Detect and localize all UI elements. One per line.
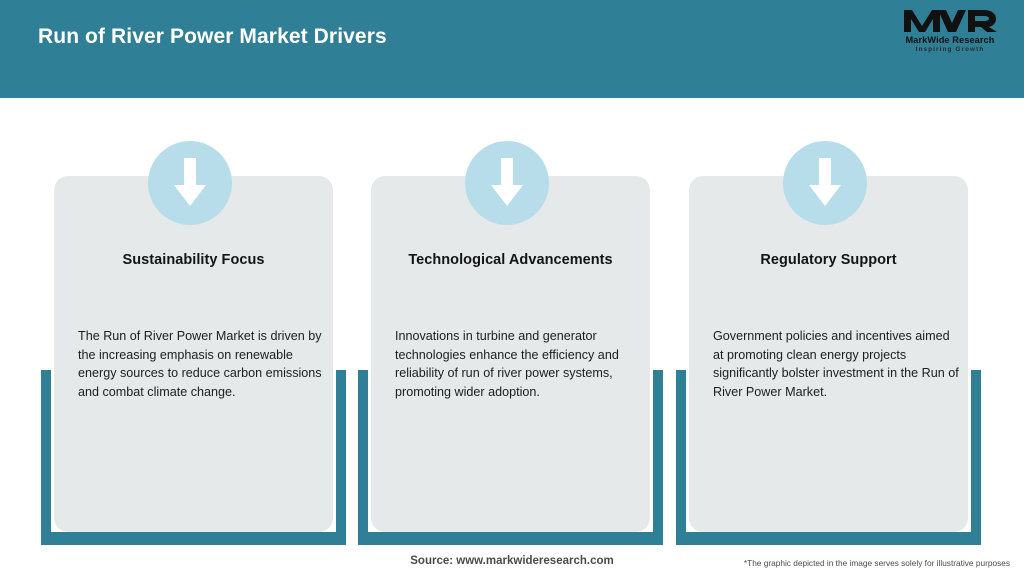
bracket-wall-left xyxy=(676,370,686,545)
card-body: The Run of River Power Market is driven … xyxy=(78,327,326,401)
bracket-wall-right xyxy=(971,370,981,545)
card-body: Innovations in turbine and generator tec… xyxy=(395,327,643,401)
bracket-wall-right xyxy=(653,370,663,545)
driver-card-2[interactable]: Technological Advancements Innovations i… xyxy=(371,176,650,532)
bracket-floor xyxy=(676,532,981,545)
arrow-down-icon xyxy=(465,141,549,225)
driver-card-group-3: Regulatory Support Government policies a… xyxy=(676,0,981,576)
bracket-floor xyxy=(41,532,346,545)
bracket-wall-left xyxy=(358,370,368,545)
driver-card-1[interactable]: Sustainability Focus The Run of River Po… xyxy=(54,176,333,532)
driver-card-3[interactable]: Regulatory Support Government policies a… xyxy=(689,176,968,532)
footer-disclaimer: *The graphic depicted in the image serve… xyxy=(744,558,1010,568)
arrow-down-icon xyxy=(148,141,232,225)
arrow-down-icon xyxy=(783,141,867,225)
bracket-wall-left xyxy=(41,370,51,545)
card-title: Technological Advancements xyxy=(371,252,650,268)
driver-card-group-2: Technological Advancements Innovations i… xyxy=(358,0,663,576)
card-body: Government policies and incentives aimed… xyxy=(713,327,961,401)
bracket-wall-right xyxy=(336,370,346,545)
card-title: Sustainability Focus xyxy=(54,252,333,268)
card-title: Regulatory Support xyxy=(689,252,968,268)
bracket-floor xyxy=(358,532,663,545)
driver-card-group-1: Sustainability Focus The Run of River Po… xyxy=(41,0,346,576)
